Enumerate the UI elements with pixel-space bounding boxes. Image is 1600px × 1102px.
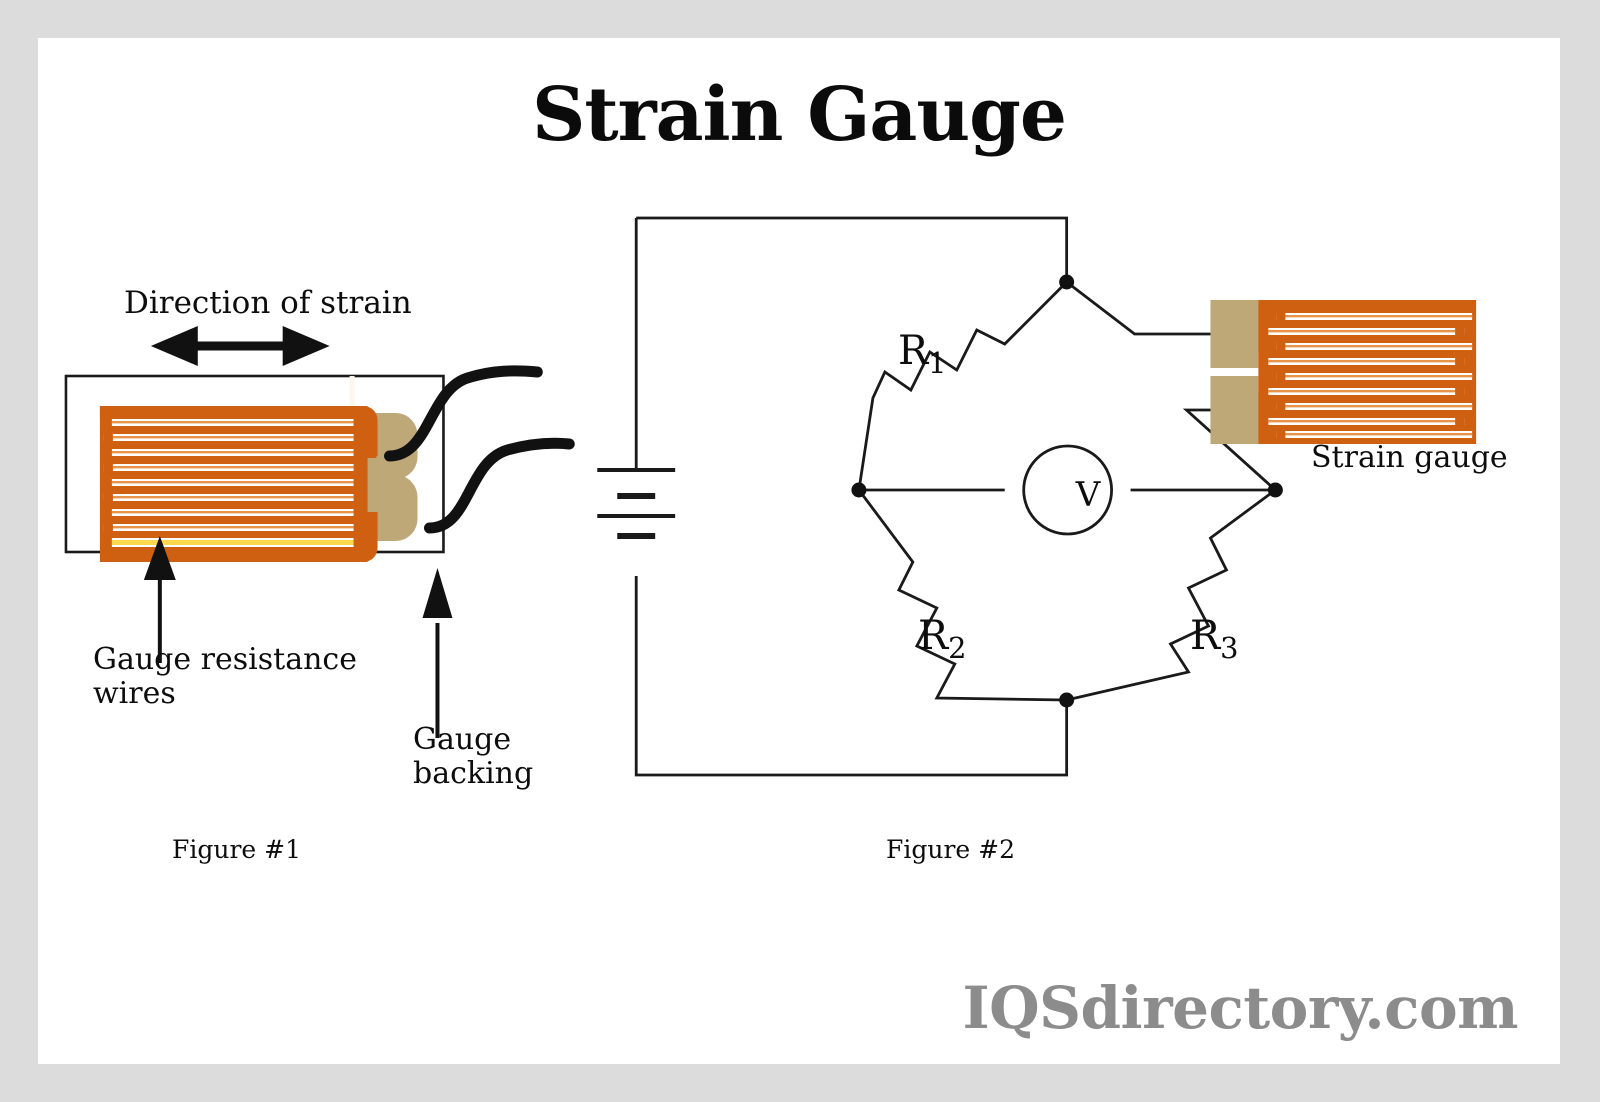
strain-gauge-label: Strain gauge [1311, 441, 1508, 475]
gauge-resistance-wires-label: Gauge resistance wires [93, 643, 393, 710]
left-node [851, 483, 866, 498]
figure-2-graphic [38, 38, 1560, 1064]
resistor-r2-letter: R [918, 613, 948, 659]
resistor-r2-label: R2 [918, 613, 966, 665]
resistor-r3-letter: R [1190, 613, 1220, 659]
strain-gauge-symbol [1210, 300, 1476, 444]
supply-left-wire-bottom [636, 576, 1066, 775]
supply-top-wire [636, 218, 1066, 282]
top-node [1059, 275, 1074, 290]
resistor-r1-subscript: 1 [928, 346, 946, 380]
battery-icon [597, 470, 675, 536]
resistor-r2-subscript: 2 [948, 631, 966, 665]
right-node [1268, 483, 1283, 498]
bottom-node [1059, 693, 1074, 708]
gauge-backing-label: Gauge backing [413, 723, 613, 790]
figure-1-caption: Figure #1 [172, 836, 301, 864]
strain-gauge-lead-top [1067, 282, 1231, 334]
watermark: IQSdirectory.com [962, 974, 1518, 1042]
resistor-r3-subscript: 3 [1220, 631, 1238, 665]
page-frame: Strain Gauge [0, 0, 1600, 1102]
figure-2-caption: Figure #2 [886, 836, 1015, 864]
canvas: Strain Gauge [38, 38, 1560, 1064]
resistor-r1-label: R1 [898, 328, 946, 380]
direction-of-strain-label: Direction of strain [124, 286, 412, 321]
resistor-r1-letter: R [898, 328, 928, 374]
voltmeter-label: V [1060, 475, 1116, 515]
diagram-stage: Direction of strain Gauge resistance wir… [38, 38, 1560, 1064]
resistor-r3-label: R3 [1190, 613, 1238, 665]
